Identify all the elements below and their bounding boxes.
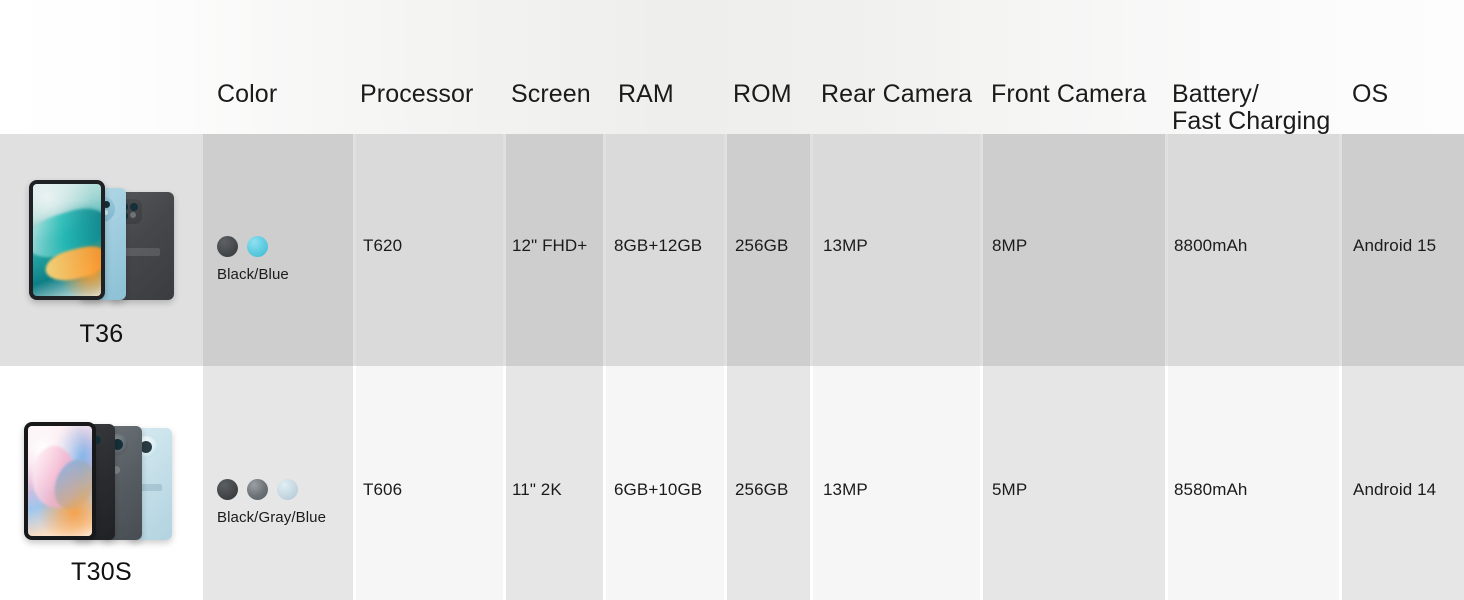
product-image-t36: [0, 170, 203, 310]
cell-front-camera: 8MP: [992, 236, 1027, 256]
screen-wallpaper: [28, 426, 92, 536]
cell-battery: 8800mAh: [1174, 236, 1247, 256]
column-header-rom: ROM: [733, 81, 792, 108]
column-band-os: [1342, 134, 1464, 600]
cell-battery: 8580mAh: [1174, 480, 1247, 500]
column-header-screen: Screen: [511, 81, 591, 108]
column-header-color: Color: [217, 81, 277, 108]
product-name: T36: [0, 320, 203, 349]
color-dot-blue[interactable]: [277, 479, 298, 500]
cell-ram: 6GB+10GB: [614, 480, 702, 500]
color-dot-black[interactable]: [217, 236, 238, 257]
color-dot-blue[interactable]: [247, 236, 268, 257]
table-header-row: Color Processor Screen RAM ROM Rear Came…: [0, 0, 1464, 134]
product-name: T30S: [0, 558, 203, 587]
column-band-battery: [1168, 134, 1339, 600]
cell-os: Android 14: [1353, 480, 1436, 500]
column-header-os: OS: [1352, 81, 1388, 108]
column-band-rear-camera: [813, 134, 980, 600]
product-image-t30s: [0, 410, 203, 548]
column-header-ram: RAM: [618, 81, 674, 108]
color-swatch-group[interactable]: Black/Blue: [217, 236, 289, 284]
cell-screen: 11" 2K: [512, 480, 562, 500]
product-cell[interactable]: T30S: [0, 410, 203, 587]
tablet-front-screen: [29, 180, 105, 300]
screen-wallpaper: [33, 184, 101, 296]
cell-processor: T620: [363, 236, 402, 256]
color-dot-black[interactable]: [217, 479, 238, 500]
cell-screen: 12" FHD+: [512, 236, 587, 256]
column-band-processor: [356, 134, 503, 600]
cell-front-camera: 5MP: [992, 480, 1027, 500]
cell-processor: T606: [363, 480, 402, 500]
column-header-processor: Processor: [360, 81, 473, 108]
color-label: Black/Blue: [217, 266, 289, 284]
color-dots: [217, 479, 326, 500]
cell-os: Android 15: [1353, 236, 1436, 256]
tablet-front-screen: [24, 422, 96, 540]
spec-comparison-table: Color Processor Screen RAM ROM Rear Came…: [0, 0, 1464, 600]
column-band-ram: [606, 134, 724, 600]
cell-ram: 8GB+12GB: [614, 236, 702, 256]
cell-rom: 256GB: [735, 236, 788, 256]
cell-rom: 256GB: [735, 480, 788, 500]
column-header-rear-camera: Rear Camera: [821, 81, 972, 108]
column-header-battery: Battery/ Fast Charging: [1172, 81, 1330, 135]
color-dots: [217, 236, 289, 257]
column-band-rom: [727, 134, 810, 600]
cell-rear-camera: 13MP: [823, 480, 868, 500]
cell-rear-camera: 13MP: [823, 236, 868, 256]
color-dot-gray[interactable]: [247, 479, 268, 500]
product-cell[interactable]: T36: [0, 170, 203, 349]
color-label: Black/Gray/Blue: [217, 509, 326, 527]
color-swatch-group[interactable]: Black/Gray/Blue: [217, 479, 326, 527]
column-band-front-camera: [983, 134, 1165, 600]
column-band-screen: [506, 134, 603, 600]
column-header-front-camera: Front Camera: [991, 81, 1146, 108]
column-band-color: [203, 134, 353, 600]
